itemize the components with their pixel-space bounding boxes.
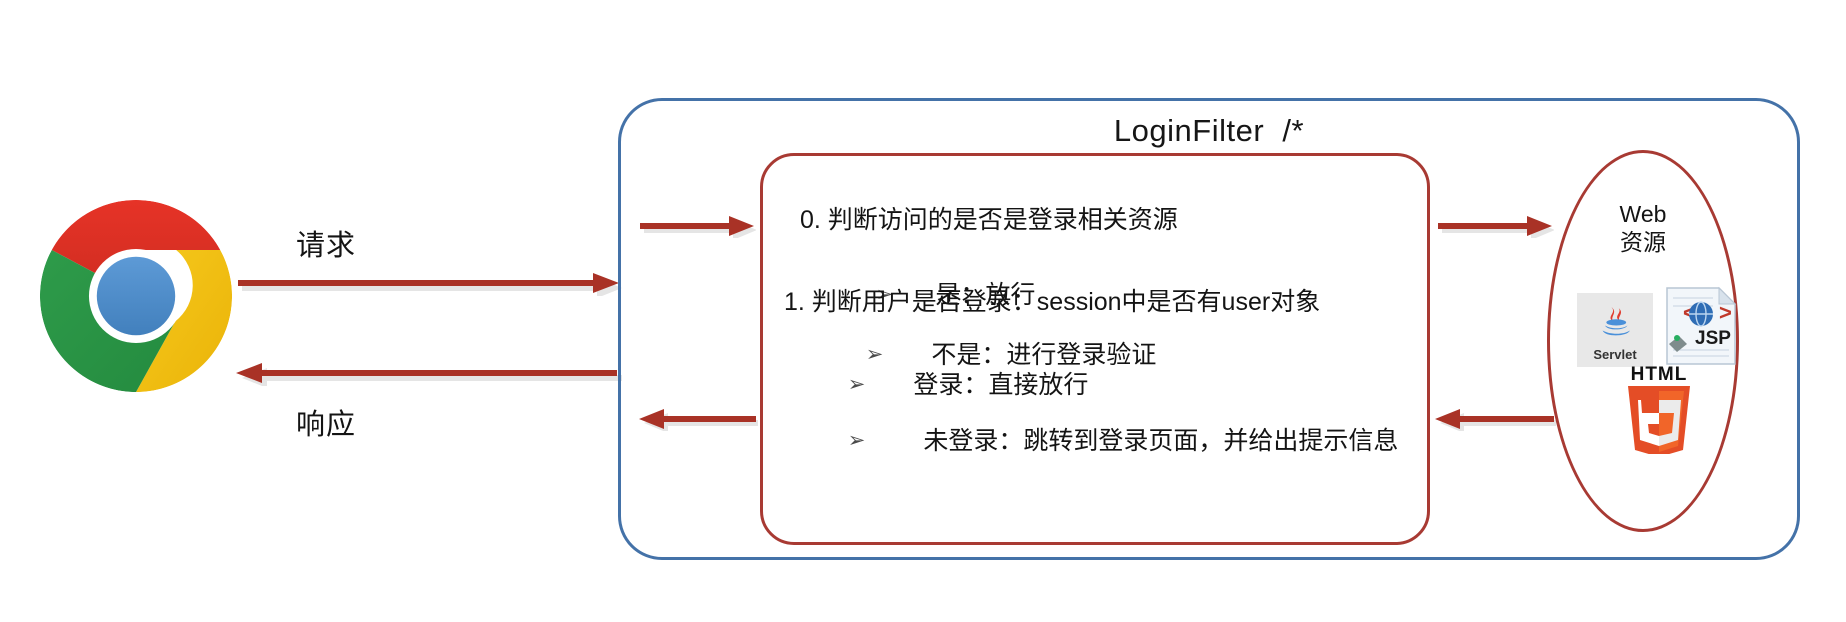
request-arrow [236, 272, 622, 301]
web-resource-line1: Web [1547, 200, 1739, 228]
svg-text:HTML: HTML [1631, 364, 1688, 385]
html5-icon: HTML [1618, 360, 1700, 454]
bullet-marker-icon: ➢ [848, 374, 866, 395]
web-resource-label: Web 资源 [1547, 200, 1739, 256]
response-label: 响应 [296, 401, 356, 443]
jsp-icon: < > JSP [1663, 286, 1739, 366]
to-resource-arrow [1436, 216, 1554, 243]
filter-out-arrow [636, 409, 758, 436]
chrome-logo-icon [38, 198, 234, 394]
svg-text:>: > [1719, 300, 1732, 325]
from-resource-arrow [1432, 409, 1556, 436]
diagram-canvas: 请求 响应 LoginFilter /* 0. 判断访问的是否是登录相关资源 ➢… [0, 0, 1846, 622]
logic-step-1-bullet-2: ➢未登录：跳转到登录页面，并给出提示信息 [820, 404, 1398, 479]
svg-text:JSP: JSP [1695, 328, 1731, 349]
web-resource-line2: 资源 [1547, 228, 1739, 256]
logic-step-1: 1. 判断用户是否登录：session中是否有user对象 [784, 290, 1320, 315]
filter-title: LoginFilter /* [618, 113, 1800, 149]
servlet-icon: Servlet [1577, 293, 1653, 367]
logic-step-0: 0. 判断访问的是否是登录相关资源 [800, 208, 1178, 233]
bullet-marker-icon: ➢ [848, 430, 866, 451]
request-label: 请求 [296, 222, 356, 264]
response-arrow [234, 362, 622, 391]
logic-bullet-text: 登录：直接放行 [913, 371, 1088, 399]
filter-in-arrow [638, 216, 756, 243]
logic-bullet-text: 未登录：跳转到登录页面，并给出提示信息 [923, 427, 1398, 455]
